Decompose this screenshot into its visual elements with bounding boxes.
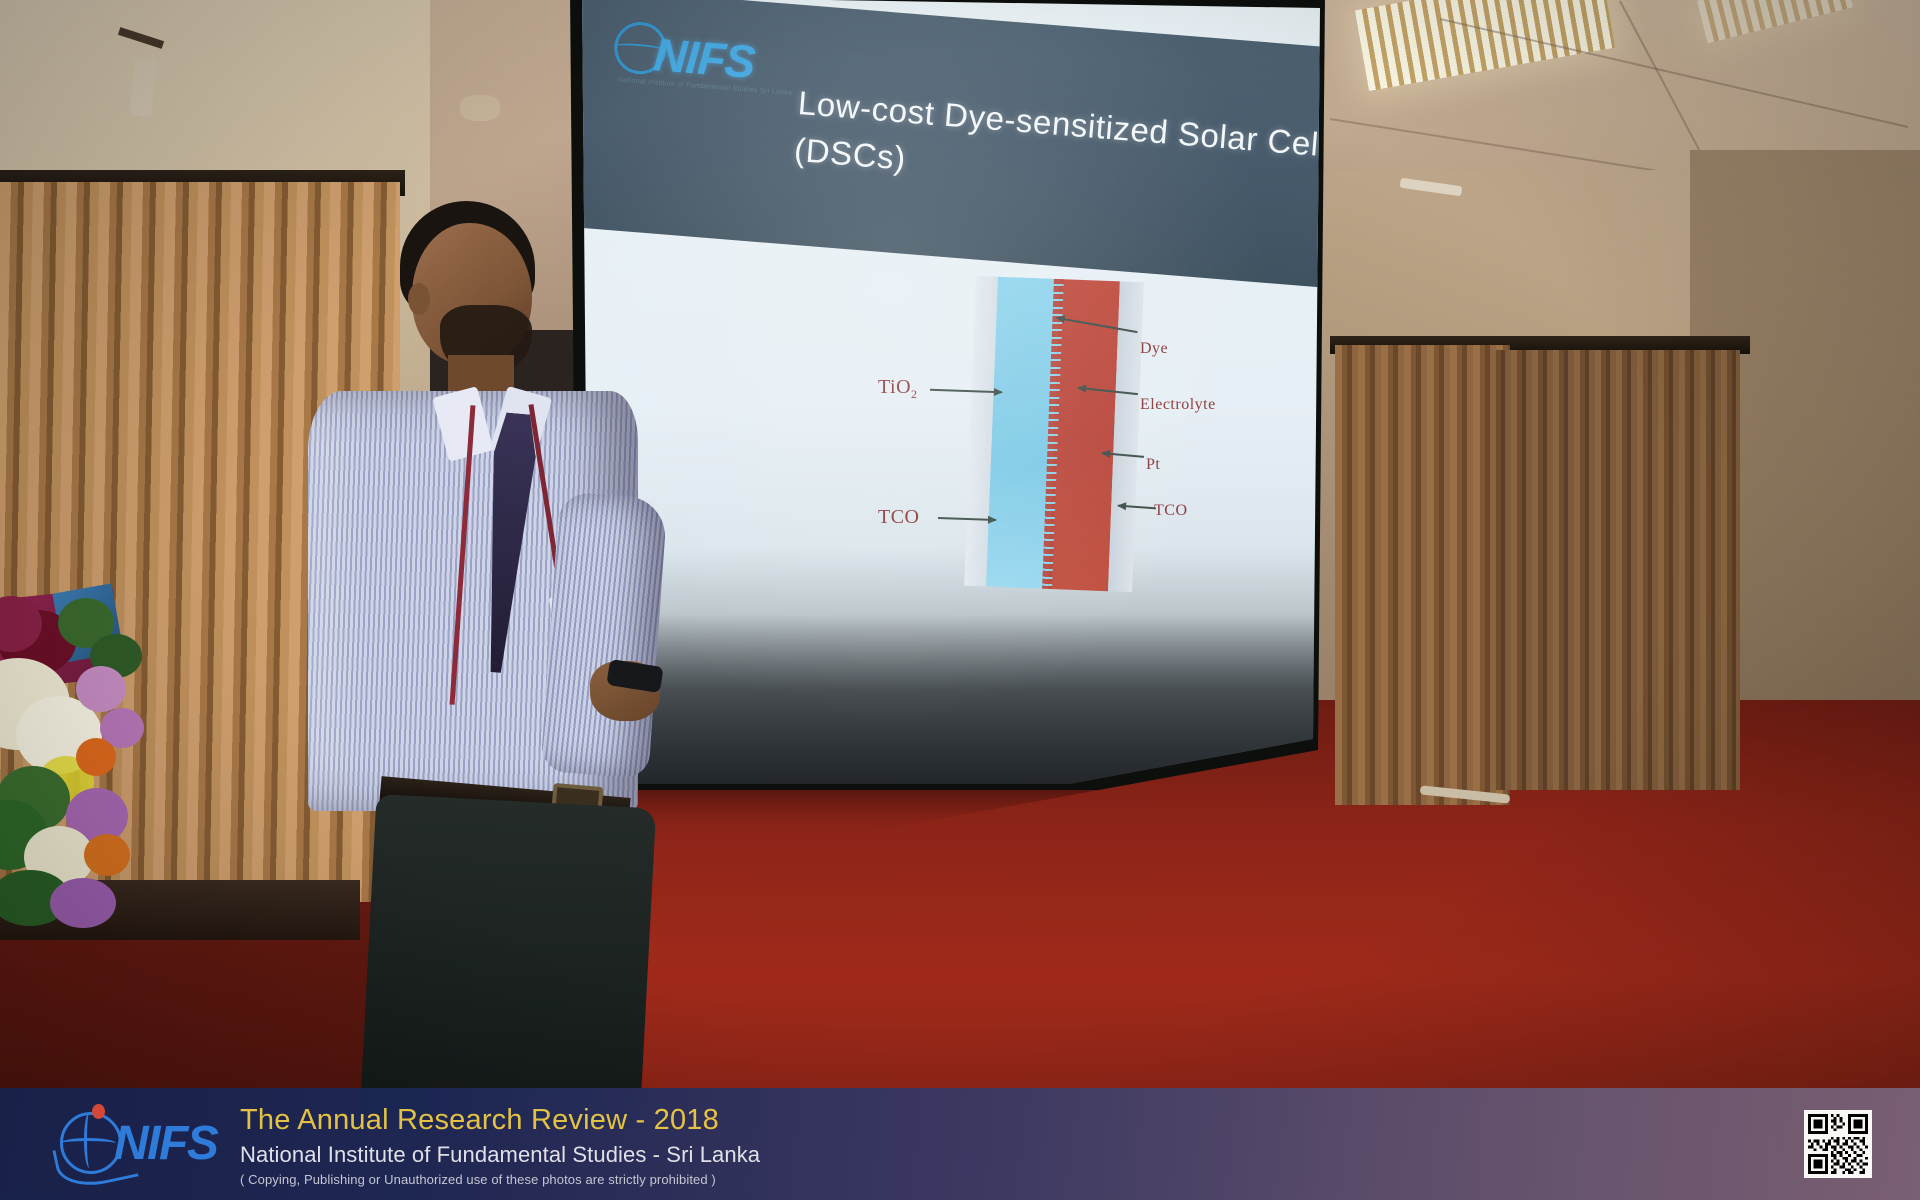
flower-petal [50,878,116,928]
presenter-trousers [360,794,656,1128]
arrow-tco-right [1118,505,1156,510]
footer-organization: National Institute of Fundamental Studie… [240,1142,760,1168]
flower-arrangement [0,588,210,918]
label-dye: Dye [1140,340,1168,358]
footer-logo-wordmark: NIFS [114,1116,217,1171]
label-pt: Pt [1146,456,1160,474]
curtain-far-right [1490,350,1740,790]
slide-nifs-logo: NIFS National Institute of Fundamental S… [606,0,804,124]
presenter [290,195,690,915]
dsc-cross-section-diagram [964,276,1144,592]
footer-nifs-logo: NIFS [52,1102,242,1186]
label-tio2: TiO2 [878,376,918,402]
label-electrolyte: Electrolyte [1140,396,1216,414]
flower-petal [84,834,130,876]
qr-code [1804,1110,1872,1178]
flower-petal [76,738,116,776]
photo-footer-bar: NIFS The Annual Research Review - 2018 N… [0,1088,1920,1200]
label-tco-left-text: TCO [878,506,920,528]
presenter-ear [408,283,430,315]
presenter-right-arm [540,492,667,779]
footer-logo-dot-icon [92,1104,105,1119]
label-tco-right: TCO [1154,502,1188,520]
label-tio2-text: TiO [878,376,911,398]
wall-patch [460,95,500,121]
label-dye-text: Dye [1140,340,1168,357]
curtain-right [1335,345,1510,805]
footer-event-title: The Annual Research Review - 2018 [240,1104,719,1137]
label-pt-text: Pt [1146,456,1160,473]
label-tio2-subscript: 2 [911,387,918,401]
label-tco-right-text: TCO [1154,502,1188,519]
presentation-photo: NIFS National Institute of Fundamental S… [0,0,1920,1200]
label-electrolyte-text: Electrolyte [1140,396,1216,413]
label-tco-left: TCO [878,506,920,529]
footer-copyright-notice: ( Copying, Publishing or Unauthorized us… [240,1172,716,1187]
flower-petal [76,666,126,712]
